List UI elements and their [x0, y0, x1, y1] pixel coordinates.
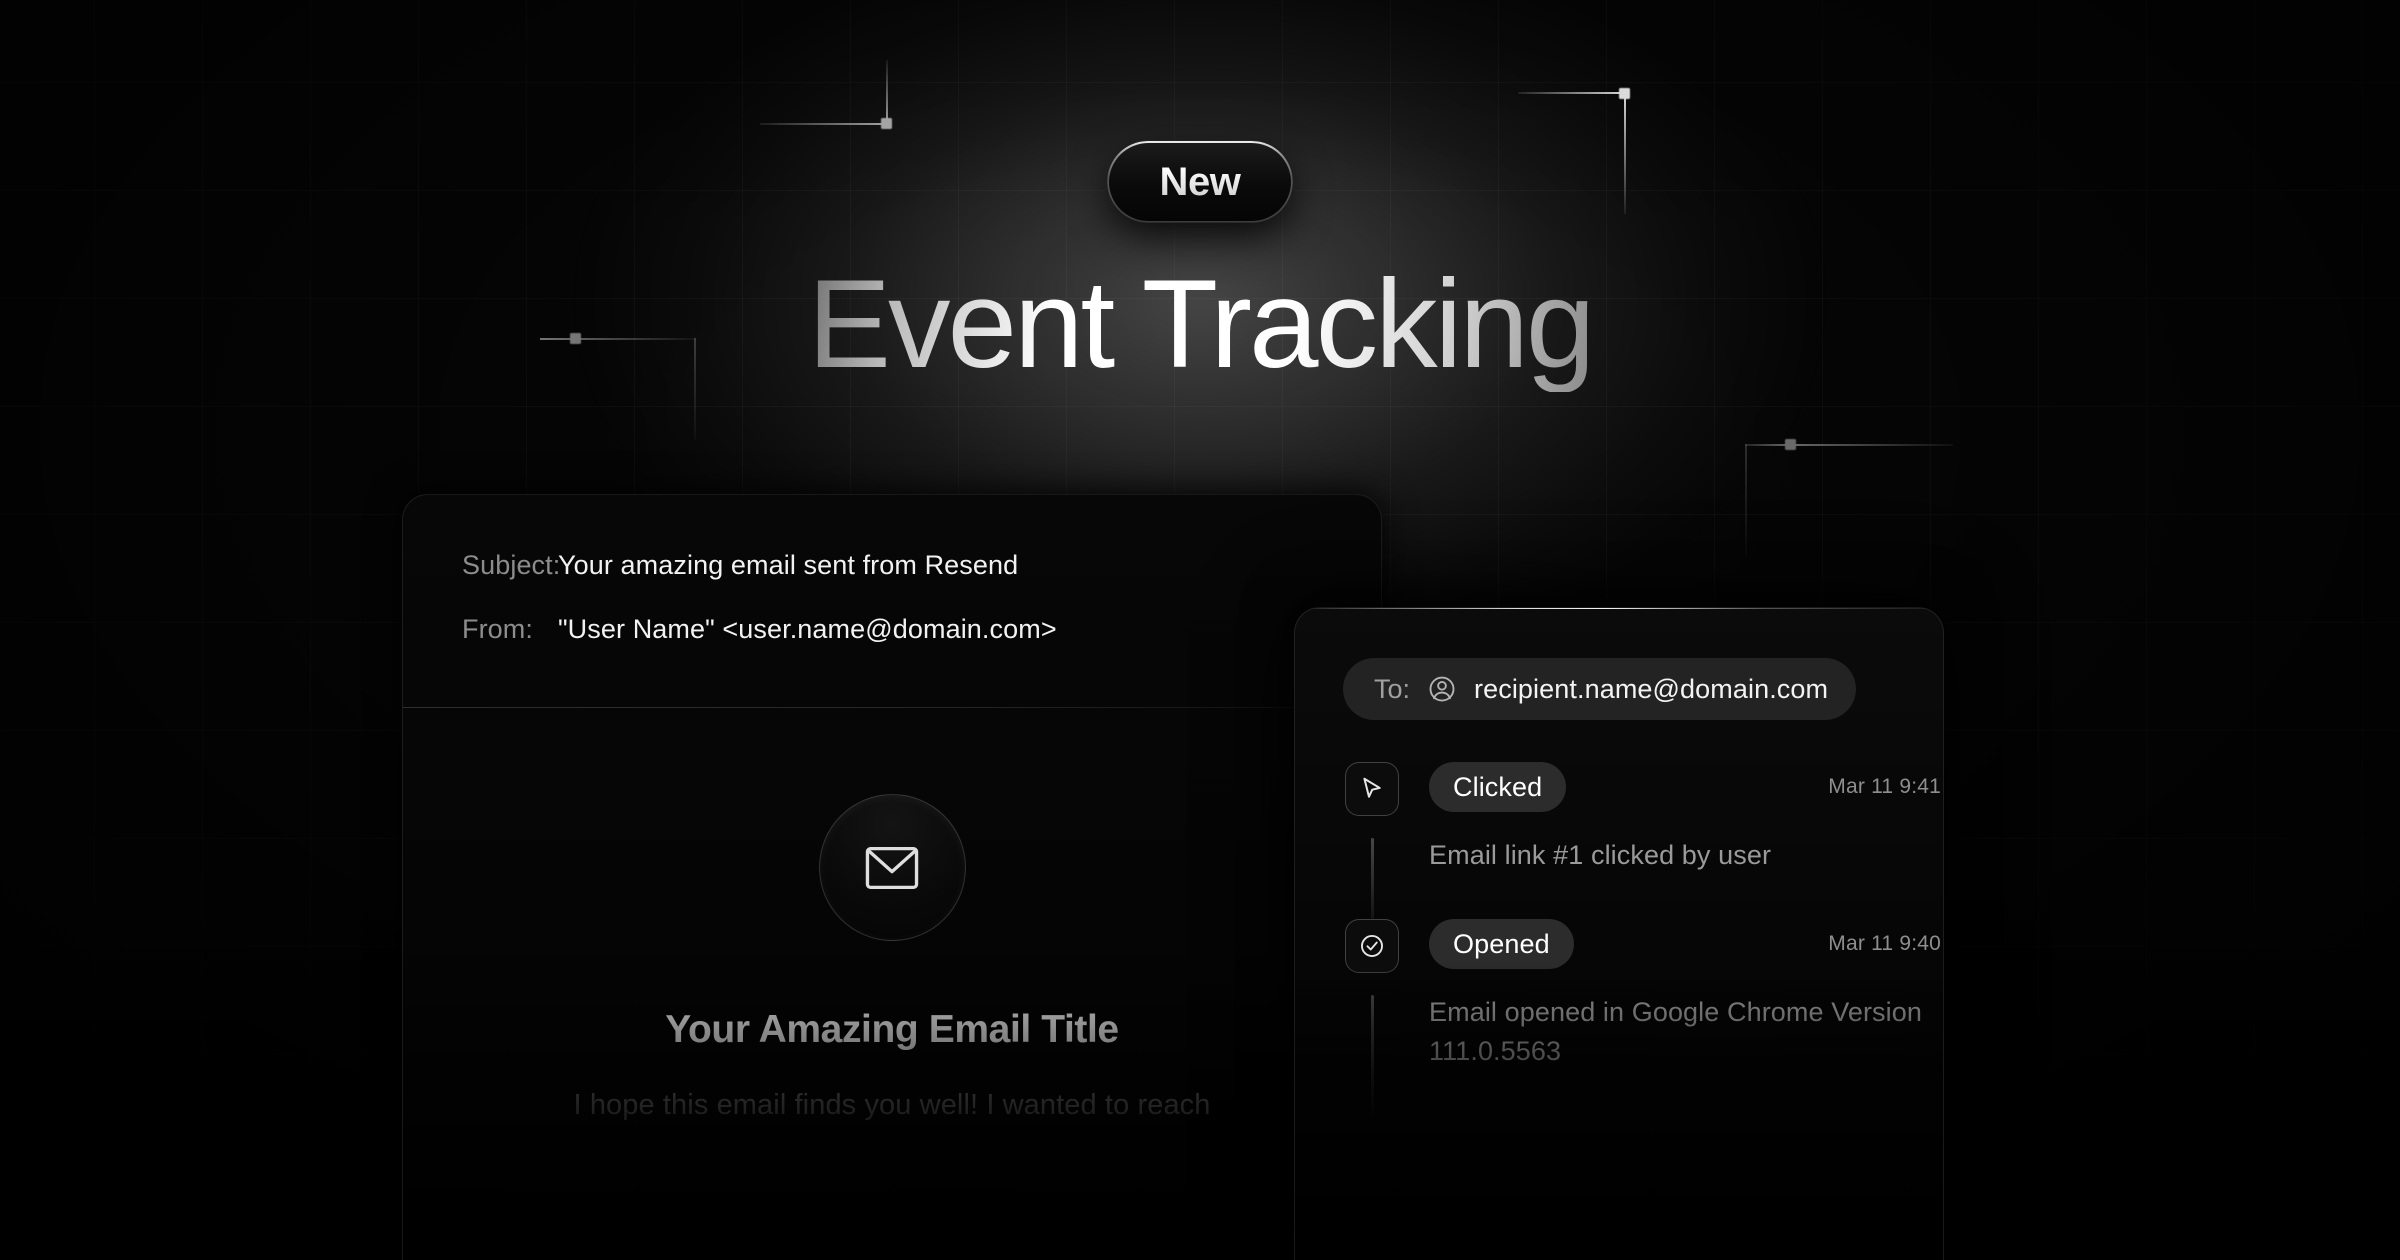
- hero-header: New Event Tracking: [0, 0, 2400, 392]
- timeline-event-opened[interactable]: Opened Mar 11 9:40 Email opened in Googl…: [1295, 919, 1943, 1115]
- email-from-label: From:: [462, 614, 558, 645]
- status-badge: Clicked: [1429, 762, 1566, 812]
- event-timeline: Clicked Mar 11 9:41 Email link #1 clicke…: [1295, 762, 1943, 1115]
- email-preview-card: Subject: Your amazing email sent from Re…: [402, 494, 1382, 1260]
- timeline-connector: [1371, 838, 1374, 919]
- timeline-event-header: Opened Mar 11 9:40: [1429, 919, 1943, 969]
- new-badge: New: [1109, 143, 1291, 221]
- email-subject-label: Subject:: [462, 550, 558, 581]
- email-from-row: From: "User Name" <user.name@domain.com>: [403, 614, 1381, 678]
- email-body: Your Amazing Email Title I hope this ema…: [403, 708, 1381, 1122]
- email-body-title: Your Amazing Email Title: [665, 1008, 1118, 1052]
- timeline-event-content: Opened Mar 11 9:40 Email opened in Googl…: [1401, 919, 1943, 1115]
- timeline-rail: [1343, 919, 1401, 1115]
- cursor-pointer-icon: [1345, 762, 1399, 816]
- timeline-connector: [1371, 995, 1374, 1115]
- recipient-pill[interactable]: To: recipient.name@domain.com: [1343, 658, 1856, 720]
- email-body-lead: I hope this email finds you well! I want…: [574, 1089, 1211, 1122]
- status-badge: Opened: [1429, 919, 1574, 969]
- hero-section: New Event Tracking Subject: Your amazing…: [0, 0, 2400, 1260]
- event-description: Email link #1 clicked by user: [1429, 836, 1943, 875]
- timeline-rail: [1343, 762, 1401, 919]
- event-timestamp: Mar 11 9:41: [1828, 775, 1941, 799]
- user-circle-icon: [1427, 674, 1457, 704]
- envelope-icon: [819, 794, 966, 941]
- timeline-event-clicked[interactable]: Clicked Mar 11 9:41 Email link #1 clicke…: [1295, 762, 1943, 919]
- event-tracking-panel: To: recipient.name@domain.com: [1294, 607, 1944, 1260]
- check-circle-icon: [1345, 919, 1399, 973]
- email-headers: Subject: Your amazing email sent from Re…: [403, 495, 1381, 708]
- event-timestamp: Mar 11 9:40: [1828, 932, 1941, 956]
- event-description: Email opened in Google Chrome Version 11…: [1429, 993, 1943, 1071]
- timeline-event-content: Clicked Mar 11 9:41 Email link #1 clicke…: [1401, 762, 1943, 919]
- timeline-event-header: Clicked Mar 11 9:41: [1429, 762, 1943, 812]
- email-from-value: "User Name" <user.name@domain.com>: [558, 614, 1057, 645]
- email-subject-row: Subject: Your amazing email sent from Re…: [403, 550, 1381, 614]
- email-subject-value: Your amazing email sent from Resend: [558, 550, 1018, 581]
- recipient-email: recipient.name@domain.com: [1474, 674, 1828, 705]
- recipient-label: To:: [1374, 674, 1410, 705]
- new-badge-label: New: [1159, 160, 1240, 205]
- page-title: Event Tracking: [808, 259, 1593, 392]
